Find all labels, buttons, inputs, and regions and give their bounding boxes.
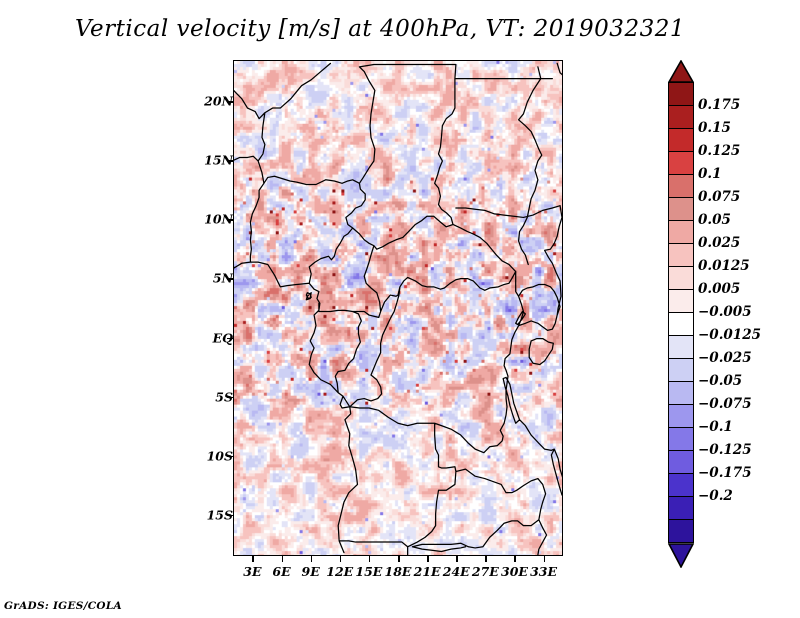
colorbar-swatch-17: [668, 473, 694, 497]
map-plot-area: [233, 60, 563, 556]
colorbar-label-6: 0.025: [698, 235, 740, 251]
borders-path: [234, 63, 562, 555]
colorbar-label-12: −0.05: [698, 373, 742, 389]
lon-label-24E: 24E: [443, 564, 470, 579]
colorbar-label-10: −0.0125: [698, 327, 761, 343]
colorbar-label-4: 0.075: [698, 189, 740, 205]
lon-label-12E: 12E: [326, 564, 353, 579]
lon-label-18E: 18E: [385, 564, 412, 579]
lon-label-30E: 30E: [501, 564, 528, 579]
lat-label-10N: 10N: [204, 212, 233, 227]
colorbar-swatch-9: [668, 289, 694, 313]
lat-label-20N: 20N: [204, 94, 233, 109]
colorbar-label-15: −0.125: [698, 442, 752, 458]
colorbar: [668, 60, 694, 565]
colorbar-swatch-10: [668, 312, 694, 336]
colorbar-swatch-2: [668, 128, 694, 152]
colorbar-label-2: 0.125: [698, 143, 740, 159]
colorbar-label-7: 0.0125: [698, 258, 750, 274]
lat-label-15S: 15S: [207, 507, 233, 522]
colorbar-swatch-16: [668, 450, 694, 474]
lon-label-33E: 33E: [530, 564, 557, 579]
colorbar-swatch-19: [668, 519, 694, 543]
colorbar-swatches: [668, 82, 694, 542]
lon-label-9E: 9E: [302, 564, 320, 579]
colorbar-arrow-up-icon: [668, 60, 694, 83]
lon-label-27E: 27E: [472, 564, 499, 579]
colorbar-swatch-14: [668, 404, 694, 428]
colorbar-swatch-0: [668, 82, 694, 106]
tick-lon-9E: [311, 556, 313, 562]
colorbar-swatch-13: [668, 381, 694, 405]
colorbar-swatch-7: [668, 243, 694, 267]
colorbar-label-0: 0.175: [698, 97, 740, 113]
colorbar-label-13: −0.075: [698, 396, 752, 412]
plot-frame: [233, 60, 563, 556]
colorbar-label-1: 0.15: [698, 120, 731, 136]
lon-label-6E: 6E: [272, 564, 290, 579]
colorbar-cap-bottom: [668, 542, 694, 568]
colorbar-swatch-6: [668, 220, 694, 244]
colorbar-swatch-3: [668, 151, 694, 175]
country-borders-overlay: [234, 61, 562, 555]
tick-lon-12E: [340, 556, 342, 562]
colorbar-label-8: 0.005: [698, 281, 740, 297]
colorbar-swatch-5: [668, 197, 694, 221]
lat-label-5S: 5S: [215, 389, 233, 404]
tick-lon-30E: [514, 556, 516, 562]
grads-plot-page: { "title": "Vertical velocity [m/s] at 4…: [0, 0, 800, 618]
tick-lon-21E: [427, 556, 429, 562]
colorbar-label-17: −0.2: [698, 488, 733, 504]
tick-lon-6E: [282, 556, 284, 562]
lat-label-5N: 5N: [213, 271, 233, 286]
lat-label-15N: 15N: [204, 153, 233, 168]
lat-label-10S: 10S: [207, 448, 233, 463]
lat-label-EQ: EQ: [213, 330, 233, 345]
colorbar-swatch-1: [668, 105, 694, 129]
colorbar-label-9: −0.005: [698, 304, 752, 320]
page-title: Vertical velocity [m/s] at 400hPa, VT: 2…: [0, 16, 760, 42]
colorbar-swatch-11: [668, 335, 694, 359]
tick-lon-18E: [398, 556, 400, 562]
colorbar-swatch-4: [668, 174, 694, 198]
colorbar-label-11: −0.025: [698, 350, 752, 366]
colorbar-arrow-down-icon: [668, 542, 694, 568]
colorbar-swatch-18: [668, 496, 694, 520]
tick-lon-3E: [252, 556, 254, 562]
tick-lon-33E: [544, 556, 546, 562]
colorbar-label-16: −0.175: [698, 465, 752, 481]
tick-lon-27E: [485, 556, 487, 562]
colorbar-cap-top: [668, 60, 694, 82]
colorbar-label-5: 0.05: [698, 212, 731, 228]
colorbar-swatch-15: [668, 427, 694, 451]
footer-credit: GrADS: IGES/COLA: [4, 600, 122, 612]
lon-label-21E: 21E: [414, 564, 441, 579]
colorbar-swatch-12: [668, 358, 694, 382]
tick-lon-15E: [369, 556, 371, 562]
lon-label-15E: 15E: [355, 564, 382, 579]
colorbar-swatch-8: [668, 266, 694, 290]
tick-lon-24E: [456, 556, 458, 562]
lon-label-3E: 3E: [243, 564, 261, 579]
colorbar-label-14: −0.1: [698, 419, 733, 435]
colorbar-label-3: 0.1: [698, 166, 722, 182]
